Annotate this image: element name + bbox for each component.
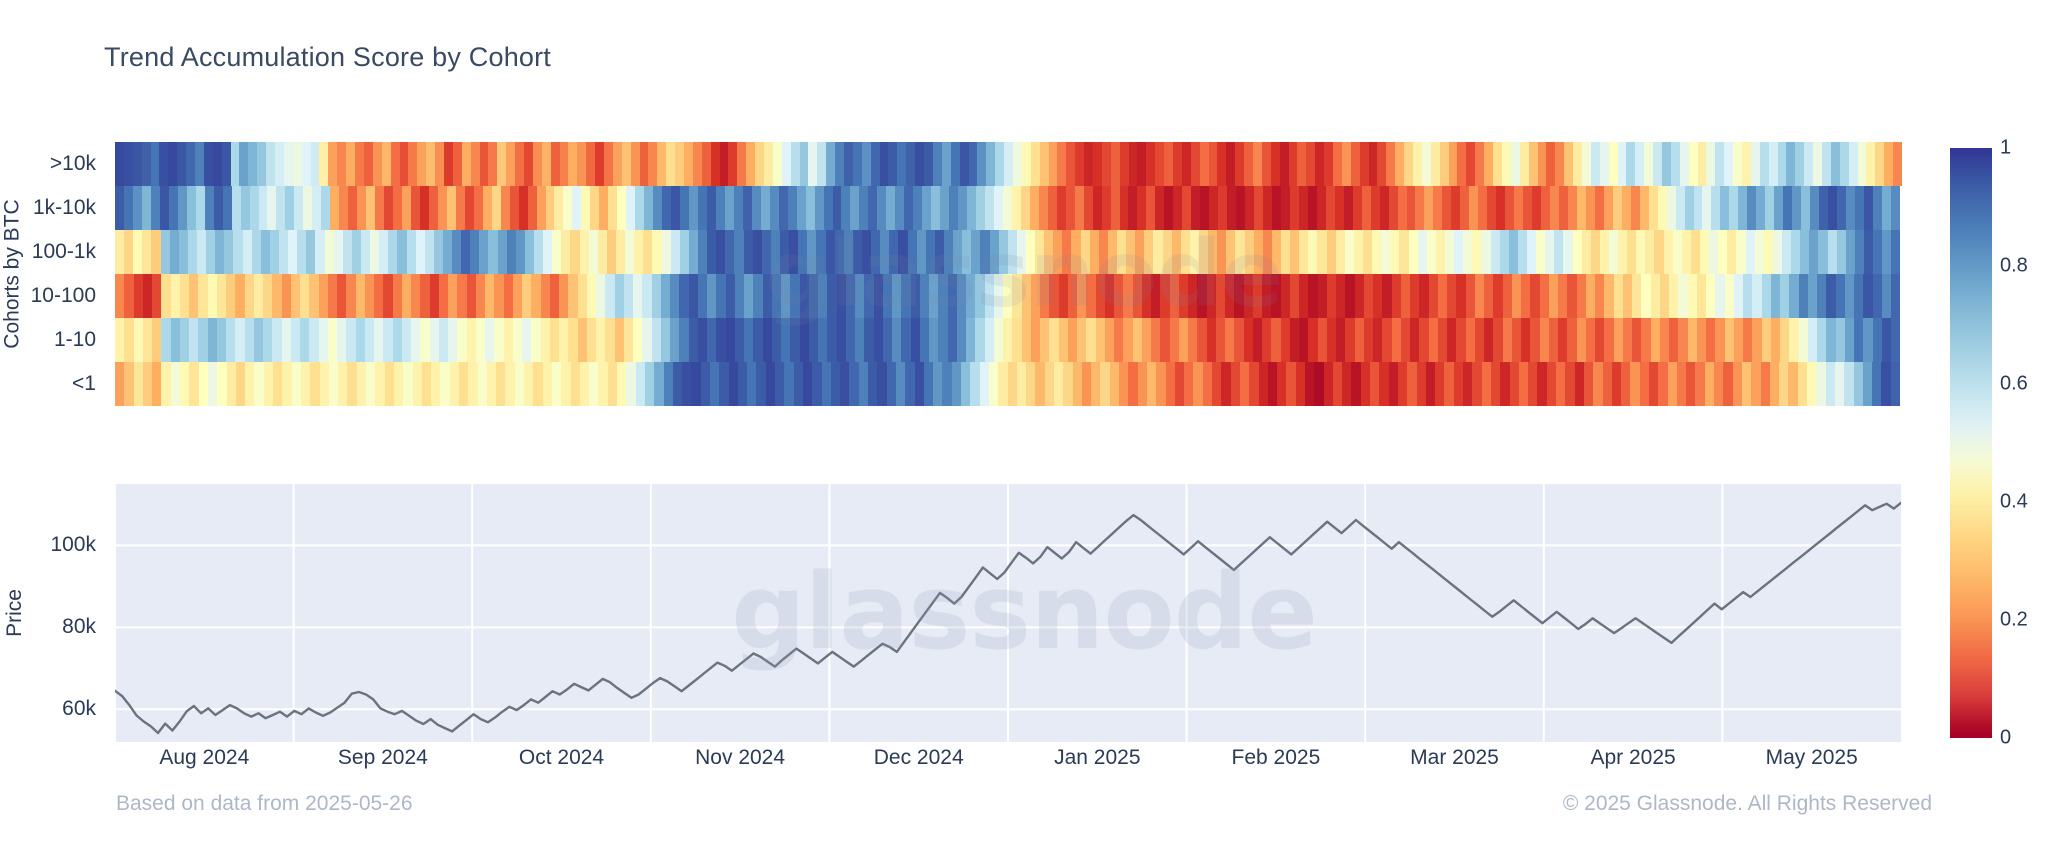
heatmap-cell: [1318, 318, 1327, 362]
heatmap-cell: [1308, 274, 1317, 318]
heatmap-cell: [1063, 362, 1072, 406]
heatmap-cell: [373, 142, 382, 186]
heatmap-cell: [1057, 186, 1066, 230]
heatmap-cell: [1096, 274, 1105, 318]
heatmap-cell: [1654, 230, 1663, 274]
heatmap-cell: [435, 142, 444, 186]
heatmap-cell: [1182, 186, 1191, 230]
heatmap-cell: [533, 142, 542, 186]
heatmap-cell: [1003, 274, 1012, 318]
heatmap-cell: [1344, 186, 1353, 230]
heatmap-cell: [272, 318, 281, 362]
heatmap-cell: [1752, 318, 1761, 362]
heatmap-cell: [1556, 362, 1565, 406]
heatmap-cell: [1173, 186, 1182, 230]
heatmap-cell: [781, 318, 790, 362]
heatmap-cell: [967, 186, 976, 230]
heatmap-cell: [1618, 230, 1627, 274]
heatmap-cell: [1635, 142, 1644, 186]
heatmap-cell: [188, 230, 197, 274]
heatmap-cell: [254, 362, 263, 406]
heatmap-cell: [970, 362, 979, 406]
heatmap-plot[interactable]: [115, 142, 1901, 406]
heatmap-cell: [142, 142, 151, 186]
heatmap-cell: [467, 274, 476, 318]
heatmap-cell: [552, 230, 561, 274]
heatmap-cell: [1660, 274, 1669, 318]
price-line-svg: [115, 484, 1901, 742]
heatmap-cell: [1567, 318, 1576, 362]
heatmap-cell: [1725, 274, 1734, 318]
heatmap-cell: [385, 362, 394, 406]
heatmap-cell: [1259, 362, 1268, 406]
heatmap-cell: [309, 274, 318, 318]
heatmap-cell: [208, 318, 217, 362]
heatmap-cell: [1253, 318, 1262, 362]
heatmap-cell: [598, 230, 607, 274]
heatmap-cell: [159, 142, 168, 186]
price-plot[interactable]: [115, 484, 1901, 742]
heatmap-cell: [1595, 186, 1604, 230]
heatmap-cell: [784, 362, 793, 406]
heatmap-cell: [633, 274, 642, 318]
heatmap-cell: [459, 362, 468, 406]
heatmap-cell: [1845, 318, 1854, 362]
heatmap-cell: [1123, 274, 1132, 318]
heatmap-cell: [1066, 142, 1075, 186]
heatmap-cell: [957, 274, 966, 318]
heatmap-cell: [1281, 230, 1290, 274]
heatmap-cell: [1718, 230, 1727, 274]
heatmap-cell: [1858, 142, 1867, 186]
heatmap-cell: [448, 274, 457, 318]
heatmap-cell: [1003, 318, 1012, 362]
heatmap-cell: [753, 274, 762, 318]
heatmap-cell: [652, 274, 661, 318]
heatmap-cell: [1614, 318, 1623, 362]
heatmap-cell: [519, 186, 528, 230]
heatmap-cell: [874, 274, 883, 318]
heatmap-cell: [720, 142, 729, 186]
heatmap-cell: [1442, 186, 1451, 230]
heatmap-cell: [744, 318, 753, 362]
heatmap-cell: [1404, 142, 1413, 186]
heatmap-cell: [497, 142, 506, 186]
heatmap-cell: [420, 318, 429, 362]
heatmap-cell: [284, 142, 293, 186]
heatmap-cell: [1836, 274, 1845, 318]
heatmap-cell: [1382, 274, 1391, 318]
heatmap-cell: [1593, 362, 1602, 406]
heatmap-cell: [300, 274, 309, 318]
heatmap-cell: [1487, 186, 1496, 230]
heatmap-cell: [664, 362, 673, 406]
heatmap-cell: [1417, 362, 1426, 406]
heatmap-cell: [949, 186, 958, 230]
xtick-dec-2024: Dec 2024: [874, 746, 964, 770]
heatmap-cell: [1475, 274, 1484, 318]
heatmap-cell: [1281, 318, 1290, 362]
heatmap-cell: [1217, 230, 1226, 274]
heatmap-cell: [1817, 318, 1826, 362]
colorbar-gradient: [1950, 148, 1992, 738]
heatmap-cell: [896, 362, 905, 406]
heatmap-cell: [252, 230, 261, 274]
heatmap-cell: [513, 274, 522, 318]
heatmap-cell: [161, 274, 170, 318]
heatmap-cell: [309, 318, 318, 362]
heatmap-cell: [1392, 274, 1401, 318]
heatmap-cell: [1102, 142, 1111, 186]
heatmap-cell: [205, 186, 214, 230]
heatmap-cell: [282, 274, 291, 318]
heatmap-cell: [1475, 142, 1484, 186]
heatmap-cell: [1584, 362, 1593, 406]
heatmap-ytick-1k-10k: 1k-10k: [0, 186, 108, 230]
heatmap-cell: [892, 274, 901, 318]
heatmap-cell: [752, 186, 761, 230]
heatmap-cell: [1854, 362, 1863, 406]
heatmap-cell: [224, 230, 233, 274]
heatmap-cell: [365, 318, 374, 362]
heatmap-cell: [321, 186, 330, 230]
heatmap-cell: [355, 142, 364, 186]
heatmap-cell: [846, 318, 855, 362]
heatmap-cell: [1586, 318, 1595, 362]
heatmap-cell: [764, 142, 773, 186]
heatmap-cell: [1660, 318, 1669, 362]
heatmap-cell: [285, 186, 294, 230]
heatmap-cell: [275, 142, 284, 186]
heatmap-cell: [1225, 318, 1234, 362]
heatmap-cell: [1481, 230, 1490, 274]
heatmap-cell: [391, 142, 400, 186]
heatmap-cell: [1685, 186, 1694, 230]
heatmap-cell: [698, 318, 707, 362]
heatmap-cell: [1460, 186, 1469, 230]
heatmap-cell: [124, 362, 133, 406]
heatmap-cell: [942, 362, 951, 406]
heatmap-cell: [1234, 274, 1243, 318]
heatmap-cell: [666, 142, 675, 186]
heatmap-cell: [1697, 274, 1706, 318]
heatmap-cell: [1017, 230, 1026, 274]
heatmap-cell: [640, 142, 649, 186]
heatmap-cell: [1532, 186, 1541, 230]
heatmap-cell: [334, 230, 343, 274]
heatmap-cell: [1799, 318, 1808, 362]
heatmap-cell: [241, 186, 250, 230]
heatmap-cell: [1369, 142, 1378, 186]
heatmap-cell: [1891, 274, 1900, 318]
heatmap-cell: [180, 318, 189, 362]
heatmap-cell: [429, 186, 438, 230]
heatmap-cell: [568, 142, 577, 186]
heatmap-cell: [1837, 230, 1846, 274]
heatmap-cell: [402, 318, 411, 362]
heatmap-row: [115, 186, 1901, 230]
heatmap-cell: [189, 318, 198, 362]
heatmap-cell: [953, 230, 962, 274]
heatmap-cell: [1012, 274, 1021, 318]
heatmap-cell: [1496, 186, 1505, 230]
heatmap-cell: [835, 142, 844, 186]
heatmap-cell: [1891, 186, 1900, 230]
heatmap-cell: [598, 362, 607, 406]
heatmap-cell: [1563, 230, 1572, 274]
heatmap-cell: [1751, 142, 1760, 186]
heatmap-cell: [1212, 362, 1221, 406]
heatmap-cell: [734, 230, 743, 274]
heatmap-cell: [1345, 274, 1354, 318]
heatmap-cell: [1191, 186, 1200, 230]
heatmap-cell: [855, 274, 864, 318]
heatmap-cell: [1789, 318, 1798, 362]
heatmap-cell: [1509, 230, 1518, 274]
heatmap-cell: [330, 186, 339, 230]
heatmap-cell: [1463, 362, 1472, 406]
heatmap-cell: [1035, 230, 1044, 274]
heatmap-cell: [346, 142, 355, 186]
heatmap-cell: [662, 186, 671, 230]
heatmap-cell: [319, 142, 328, 186]
heatmap-cell: [1244, 274, 1253, 318]
heatmap-cell: [1828, 230, 1837, 274]
heatmap-cell: [815, 186, 824, 230]
heatmap-cell: [1760, 142, 1769, 186]
heatmap-cell: [957, 318, 966, 362]
heatmap-cell: [1048, 186, 1057, 230]
heatmap-cell: [397, 230, 406, 274]
heatmap-cell: [1336, 274, 1345, 318]
heatmap-cell: [124, 186, 133, 230]
heatmap-cell: [1528, 362, 1537, 406]
heatmap-cell: [1747, 186, 1756, 230]
heatmap-cell: [279, 230, 288, 274]
heatmap-cell: [1179, 318, 1188, 362]
heatmap-cell: [1188, 318, 1197, 362]
heatmap-cell: [827, 274, 836, 318]
heatmap-cell: [1549, 274, 1558, 318]
heatmap-ytick->10k: >10k: [0, 142, 108, 186]
heatmap-cell: [134, 318, 143, 362]
heatmap-cell: [1353, 186, 1362, 230]
heatmap-cell: [525, 230, 534, 274]
heatmap-cell: [483, 186, 492, 230]
heatmap-cell: [1664, 230, 1673, 274]
heatmap-cell: [431, 362, 440, 406]
heatmap-cell: [951, 142, 960, 186]
heatmap-cell: [1138, 362, 1147, 406]
heatmap-cell: [1762, 318, 1771, 362]
xtick-jan-2025: Jan 2025: [1054, 746, 1140, 770]
heatmap-cell: [1164, 186, 1173, 230]
heatmap-cell: [1268, 362, 1277, 406]
heatmap-cell: [208, 362, 217, 406]
heatmap-cell: [161, 230, 170, 274]
heatmap-cell: [375, 362, 384, 406]
heatmap-cell: [1216, 274, 1225, 318]
heatmap-cell: [456, 186, 465, 230]
heatmap-cell: [841, 186, 850, 230]
heatmap-cell: [443, 230, 452, 274]
heatmap-cell: [1271, 318, 1280, 362]
heatmap-cell: [1351, 362, 1360, 406]
heatmap-cell: [1333, 362, 1342, 406]
heatmap-row: [115, 318, 1901, 362]
heatmap-cell: [1538, 142, 1547, 186]
heatmap-cell: [671, 230, 680, 274]
heatmap-cell: [1290, 230, 1299, 274]
heatmap-cell: [889, 230, 898, 274]
heatmap-cell: [1484, 142, 1493, 186]
heatmap-cell: [403, 362, 412, 406]
heatmap-cell: [1081, 230, 1090, 274]
heatmap-cell: [806, 186, 815, 230]
heatmap-cell: [366, 186, 375, 230]
heatmap-cell: [1884, 142, 1893, 186]
heatmap-cell: [1669, 274, 1678, 318]
heatmap-cell: [1559, 186, 1568, 230]
heatmap-cell: [1135, 230, 1144, 274]
heatmap-cell: [835, 230, 844, 274]
heatmap-cell: [1447, 274, 1456, 318]
heatmap-cell: [1031, 142, 1040, 186]
xtick-apr-2025: Apr 2025: [1590, 746, 1675, 770]
heatmap-cell: [1299, 274, 1308, 318]
heatmap-cell: [1536, 230, 1545, 274]
heatmap-cell: [1804, 142, 1813, 186]
heatmap-cell: [1308, 318, 1317, 362]
heatmap-cell: [1686, 362, 1695, 406]
heatmap-cell: [348, 186, 357, 230]
heatmap-cell: [1057, 142, 1066, 186]
heatmap-cell: [1119, 362, 1128, 406]
heatmap-cell: [1700, 230, 1709, 274]
heatmap-cell: [1640, 186, 1649, 230]
heatmap-cell: [887, 362, 896, 406]
heatmap-cell: [347, 362, 356, 406]
heatmap-cell: [388, 230, 397, 274]
heatmap-cell: [625, 230, 634, 274]
heatmap-cell: [474, 186, 483, 230]
heatmap-cell: [1482, 362, 1491, 406]
heatmap-cell: [1577, 318, 1586, 362]
heatmap-cell: [962, 230, 971, 274]
heatmap-cell: [171, 362, 180, 406]
heatmap-cell: [1272, 230, 1281, 274]
heatmap-cell: [1454, 230, 1463, 274]
heatmap-cell: [152, 274, 161, 318]
heatmap-cell: [1540, 274, 1549, 318]
heatmap-cell: [1537, 362, 1546, 406]
heatmap-cell: [657, 142, 666, 186]
heatmap-cell: [1854, 318, 1863, 362]
heatmap-cell: [1451, 186, 1460, 230]
heatmap-cell: [976, 186, 985, 230]
heatmap-cell: [311, 142, 320, 186]
heatmap-cell: [682, 362, 691, 406]
heatmap-cell: [862, 230, 871, 274]
heatmap-cell: [1752, 274, 1761, 318]
heatmap-cell: [338, 362, 347, 406]
heatmap-cell: [1549, 318, 1558, 362]
heatmap-cell: [1022, 318, 1031, 362]
heatmap-cell: [1426, 362, 1435, 406]
heatmap-cell: [1429, 274, 1438, 318]
heatmap-cell: [1891, 230, 1900, 274]
heatmap-cell: [1864, 186, 1873, 230]
heatmap-cell: [1281, 274, 1290, 318]
heatmap-cell: [1627, 230, 1636, 274]
heatmap-cell: [975, 274, 984, 318]
heatmap-cell: [1694, 186, 1703, 230]
heatmap-cell: [707, 274, 716, 318]
heatmap-cell: [1546, 142, 1555, 186]
heatmap-cell: [1799, 274, 1808, 318]
heatmap-cell: [292, 362, 301, 406]
heatmap-cell: [1424, 186, 1433, 230]
heatmap-cell: [1022, 274, 1031, 318]
heatmap-ytick-1-10: 1-10: [0, 318, 108, 362]
heatmap-cell: [422, 362, 431, 406]
heatmap-cell: [294, 186, 303, 230]
heatmap-cell: [272, 274, 281, 318]
heatmap-cell: [1591, 230, 1600, 274]
heatmap-cell: [790, 318, 799, 362]
xaxis-tick-labels: Aug 2024Sep 2024Oct 2024Nov 2024Dec 2024…: [115, 746, 1901, 780]
heatmap-cell: [439, 274, 448, 318]
heatmap-cell: [980, 362, 989, 406]
heatmap-cell: [420, 274, 429, 318]
heatmap-cell: [1472, 230, 1481, 274]
heatmap-cell: [911, 274, 920, 318]
heatmap-cell: [223, 186, 232, 230]
heatmap-cell: [1099, 230, 1108, 274]
heatmap-cell: [476, 318, 485, 362]
heatmap-cell: [143, 318, 152, 362]
heatmap-cell: [485, 318, 494, 362]
heatmap-cell: [1191, 142, 1200, 186]
heatmap-cell: [264, 362, 273, 406]
heatmap-cell: [461, 230, 470, 274]
heatmap-cell: [1671, 142, 1680, 186]
heatmap-cell: [915, 362, 924, 406]
heatmap-cell: [402, 274, 411, 318]
heatmap-cell: [250, 186, 259, 230]
heatmap-cell: [710, 362, 719, 406]
heatmap-cell: [1816, 362, 1825, 406]
heatmap-cell: [675, 142, 684, 186]
heatmap-cell: [933, 362, 942, 406]
heatmap-cell: [853, 142, 862, 186]
heatmap-cell: [151, 142, 160, 186]
heatmap-cell: [1711, 186, 1720, 230]
heatmap-cell: [1008, 362, 1017, 406]
heatmap-cell: [1673, 230, 1682, 274]
heatmap-cell: [800, 318, 809, 362]
heatmap-cell: [1236, 186, 1245, 230]
heatmap-cell: [652, 318, 661, 362]
heatmap-cell: [1734, 318, 1743, 362]
heatmap-cell: [282, 362, 291, 406]
heatmap-cell: [206, 230, 215, 274]
heatmap-cell: [411, 186, 420, 230]
heatmap-cell: [570, 230, 579, 274]
heatmap-cell: [680, 230, 689, 274]
heatmap-cell: [498, 230, 507, 274]
heatmap-cell: [357, 186, 366, 230]
